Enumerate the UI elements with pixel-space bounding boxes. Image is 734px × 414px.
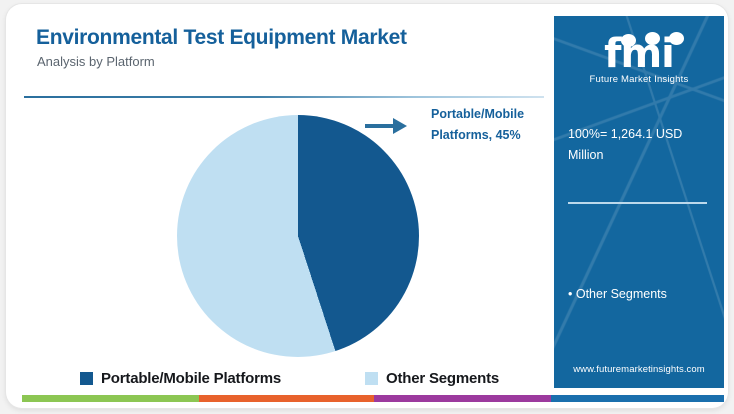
strip-segment xyxy=(199,395,374,402)
total-value-text: 100%= 1,264.1 USD Million xyxy=(568,124,710,166)
logo-dot xyxy=(669,32,684,45)
strip-segment xyxy=(551,395,724,402)
website-url[interactable]: www.futuremarketinsights.com xyxy=(554,364,724,375)
legend-item-label: Portable/Mobile Platforms xyxy=(101,370,281,387)
chart-legend: Portable/Mobile Platforms Other Segments xyxy=(80,370,520,392)
slice-callout-label: Portable/Mobile Platforms, 45% xyxy=(431,104,556,146)
sidebar-divider xyxy=(568,202,707,204)
legend-item-label: Other Segments xyxy=(386,370,499,387)
page-subtitle: Analysis by Platform xyxy=(37,54,155,69)
pie-chart xyxy=(177,115,419,357)
legend-swatch xyxy=(80,372,93,385)
report-card: Environmental Test Equipment Market Anal… xyxy=(6,4,728,408)
screenshot-root: Environmental Test Equipment Market Anal… xyxy=(0,0,734,414)
logo-dots-icon xyxy=(619,32,695,48)
brand-sidebar: fmi Future Market Insights 100%= 1,264.1… xyxy=(554,16,724,388)
header-divider xyxy=(24,96,544,98)
arrow-head xyxy=(393,118,407,134)
strip-segment xyxy=(22,395,199,402)
footer-color-strip xyxy=(22,395,724,402)
fmi-logo: fmi Future Market Insights xyxy=(554,32,724,96)
sidebar-bullet-item: • Other Segments xyxy=(568,285,716,303)
page-title: Environmental Test Equipment Market xyxy=(36,26,407,50)
arrow-shaft xyxy=(365,124,395,128)
logo-dot xyxy=(621,34,636,47)
legend-swatch xyxy=(365,372,378,385)
legend-item: Portable/Mobile Platforms xyxy=(80,370,281,387)
pie-slices xyxy=(177,115,419,357)
legend-item: Other Segments xyxy=(365,370,499,387)
strip-segment xyxy=(374,395,551,402)
logo-tagline: Future Market Insights xyxy=(554,74,724,85)
arrow-right-icon xyxy=(365,117,409,135)
chart-panel: Environmental Test Equipment Market Anal… xyxy=(16,12,549,390)
logo-dot xyxy=(645,32,660,45)
